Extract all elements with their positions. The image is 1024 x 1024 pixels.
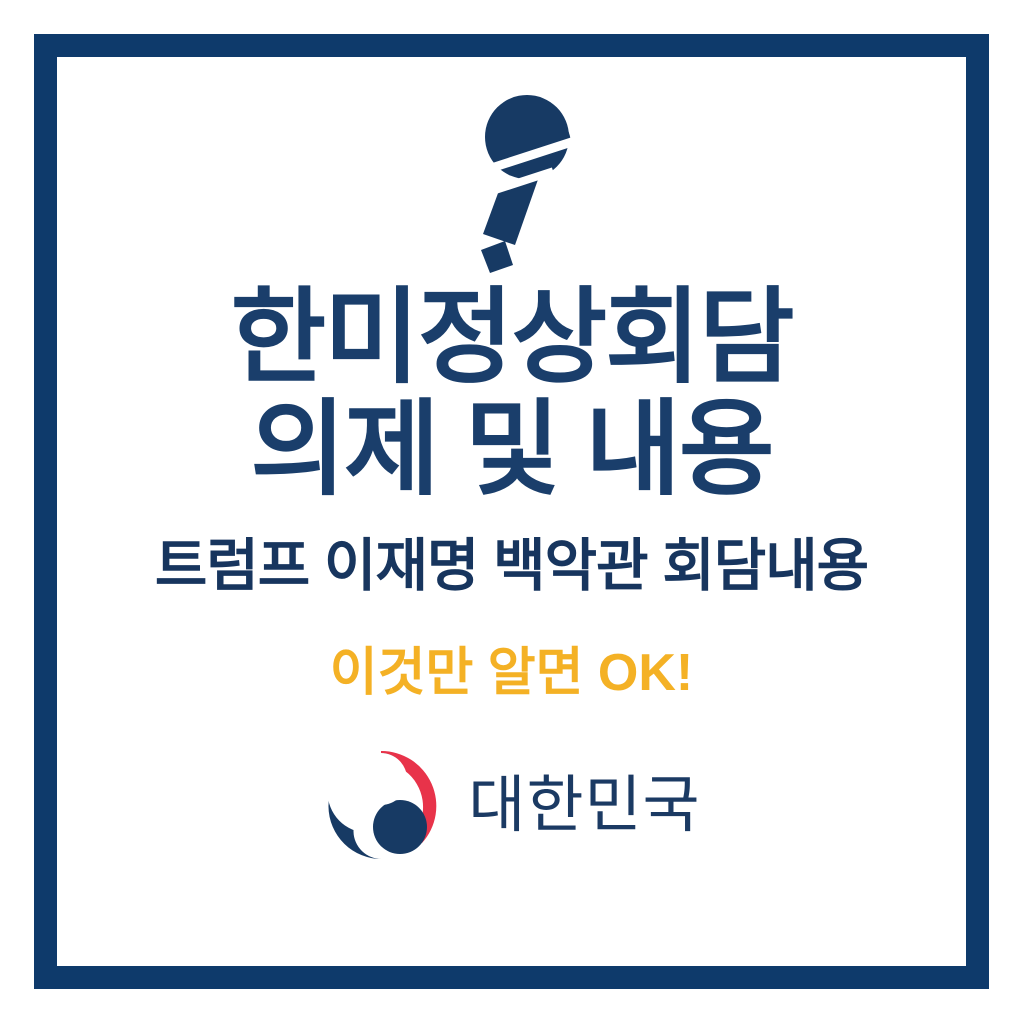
government-logo: 대한민국 [57, 747, 966, 865]
microphone-icon [437, 75, 587, 275]
microphone-icon-wrapper [57, 75, 966, 275]
poster-content: 한미정상회담 의제 및 내용 트럼프 이재명 백악관 회담내용 이것만 알면 O… [57, 57, 966, 966]
headline-line-1: 한미정상회담 [57, 282, 966, 394]
government-wordmark: 대한민국 [468, 775, 700, 837]
poster-card: 한미정상회담 의제 및 내용 트럼프 이재명 백악관 회담내용 이것만 알면 O… [0, 0, 1024, 1024]
highlight-text: 이것만 알면 OK! [57, 645, 966, 702]
page-title: 한미정상회담 의제 및 내용 [57, 282, 966, 507]
korea-government-taegeuk-emblem-icon [322, 747, 440, 865]
subtitle-text: 트럼프 이재명 백악관 회담내용 [57, 535, 966, 598]
headline-line-2: 의제 및 내용 [57, 394, 966, 506]
